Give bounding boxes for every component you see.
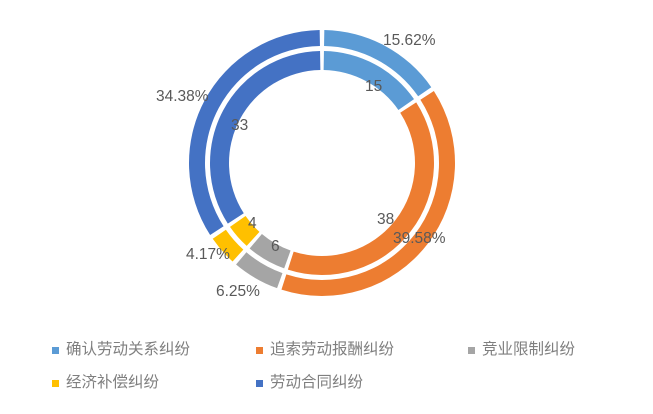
legend: 确认劳动关系纠纷追索劳动报酬纠纷竞业限制纠纷 经济补偿纠纷劳动合同纠纷 <box>0 330 653 414</box>
percent-label-jingji-buchang: 4.17% <box>186 247 230 263</box>
legend-swatch-icon <box>256 347 263 354</box>
percent-label-laodong-hetong: 34.38% <box>156 89 209 105</box>
legend-item-label: 劳动合同纠纷 <box>270 375 363 391</box>
legend-item-queren-laodong-guanxi[interactable]: 确认劳动关系纠纷 <box>52 335 190 365</box>
percent-label-zhuisuo-laodong-baochou: 39.58% <box>393 231 446 247</box>
donut-plot-area: 确认劳动关系纠纷追索劳动报酬纠纷竞业限制纠纷经济补偿纠纷劳动合同纠纷 确认劳动关… <box>0 0 653 325</box>
donut-rings-svg: 确认劳动关系纠纷追索劳动报酬纠纷竞业限制纠纷经济补偿纠纷劳动合同纠纷 确认劳动关… <box>0 0 653 325</box>
count-label-jingji-buchang: 4 <box>248 216 257 232</box>
percent-label-queren-laodong-guanxi: 15.62% <box>383 33 436 49</box>
legend-swatch-icon <box>52 380 59 387</box>
count-label-zhuisuo-laodong-baochou: 38 <box>377 212 394 228</box>
donut-chart: 确认劳动关系纠纷追索劳动报酬纠纷竞业限制纠纷经济补偿纠纷劳动合同纠纷 确认劳动关… <box>0 0 653 414</box>
legend-item-label: 竞业限制纠纷 <box>482 342 575 358</box>
legend-item-zhuisuo-laodong-baochou[interactable]: 追索劳动报酬纠纷 <box>256 335 394 365</box>
legend-item-label: 经济补偿纠纷 <box>66 375 159 391</box>
legend-swatch-icon <box>256 380 263 387</box>
percent-label-jingye-xianzhi: 6.25% <box>216 284 260 300</box>
legend-swatch-icon <box>468 347 475 354</box>
legend-row-2: 经济补偿纠纷劳动合同纠纷 <box>0 368 653 398</box>
legend-item-label: 确认劳动关系纠纷 <box>66 342 190 358</box>
legend-item-label: 追索劳动报酬纠纷 <box>270 342 394 358</box>
count-label-queren-laodong-guanxi: 15 <box>365 79 382 95</box>
legend-item-laodong-hetong[interactable]: 劳动合同纠纷 <box>256 368 363 398</box>
count-label-jingye-xianzhi: 6 <box>271 239 280 255</box>
legend-row-1: 确认劳动关系纠纷追索劳动报酬纠纷竞业限制纠纷 <box>0 335 653 365</box>
legend-item-jingji-buchang[interactable]: 经济补偿纠纷 <box>52 368 159 398</box>
legend-item-jingye-xianzhi[interactable]: 竞业限制纠纷 <box>468 335 575 365</box>
legend-swatch-icon <box>52 347 59 354</box>
count-label-laodong-hetong: 33 <box>231 118 248 134</box>
